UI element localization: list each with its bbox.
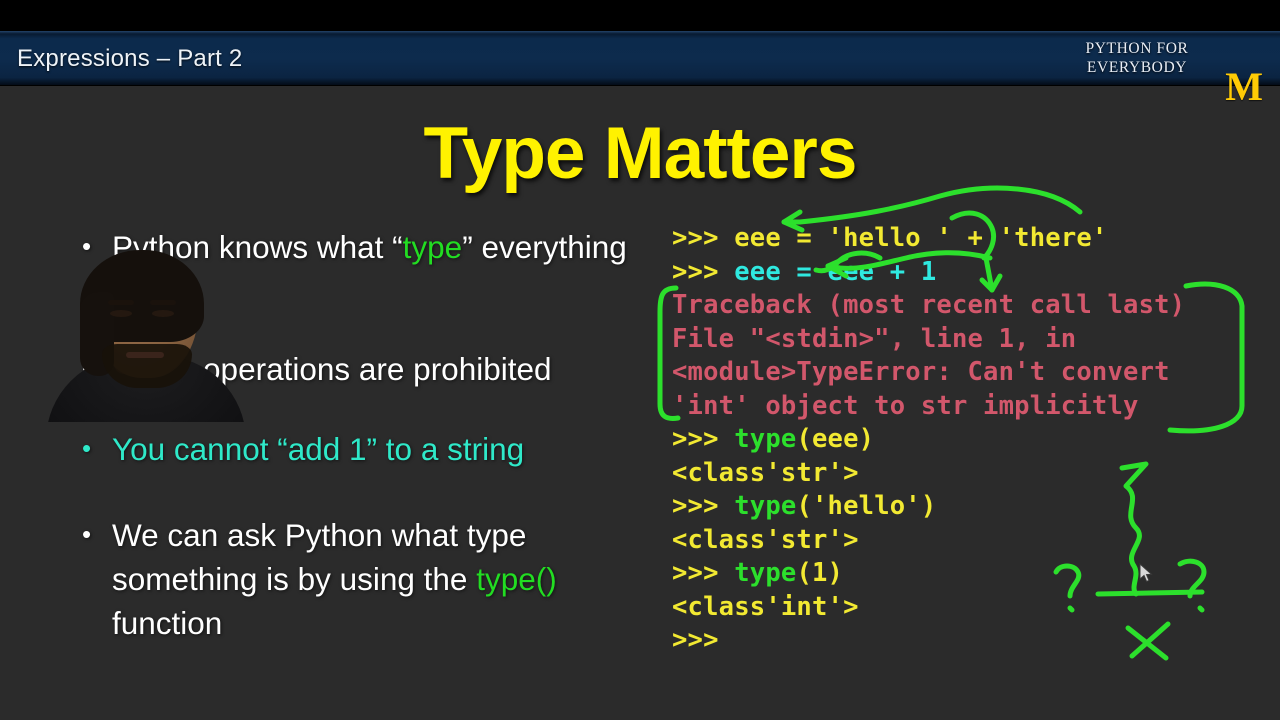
code-segment: <module>TypeError: Can't convert <box>672 357 1170 387</box>
code-line-9: >>> type('hello') <box>672 490 1272 524</box>
code-segment: >>> <box>672 424 734 454</box>
python-console-transcript: >>> eee = 'hello ' + 'there'>>> eee = ee… <box>672 222 1272 658</box>
brand-line-2: EVERYBODY <box>1062 58 1212 77</box>
code-segment: >>> <box>672 223 734 253</box>
code-line-2: >>> eee = eee + 1 <box>672 256 1272 290</box>
code-segment: (1) <box>796 558 843 588</box>
page-title: Type Matters <box>0 112 1280 195</box>
code-segment: 'int' object to str implicitly <box>672 391 1139 421</box>
code-segment: File "<stdin>", line 1, in <box>672 324 1076 354</box>
code-segment: (eee) <box>796 424 874 454</box>
lecture-title: Expressions – Part 2 <box>17 45 242 73</box>
bullet-ask-python-type: We can ask Python what type something is… <box>80 513 640 645</box>
brand-wordmark: PYTHON FOR EVERYBODY <box>1062 39 1212 77</box>
code-segment: type <box>734 558 796 588</box>
code-segment: Traceback (most recent call last) <box>672 290 1185 320</box>
code-segment: >>> <box>672 558 734 588</box>
presenter-webcam-cutout <box>18 248 254 422</box>
code-line-7: >>> type(eee) <box>672 423 1272 457</box>
code-line-12: <class'int'> <box>672 591 1272 625</box>
mouse-cursor <box>1139 563 1153 583</box>
bullet-keyword-type-function: type() <box>476 561 557 597</box>
code-segment: <class'str'> <box>672 458 859 488</box>
code-line-8: <class'str'> <box>672 457 1272 491</box>
webcam-eyebrow-right <box>150 300 176 305</box>
bullet-cannot-add-one: You cannot “add 1” to a string <box>80 427 640 471</box>
code-segment: >>> <box>672 257 734 287</box>
letterbox-top <box>0 0 1280 31</box>
webcam-mouth <box>126 352 164 358</box>
code-segment: eee = eee + 1 <box>734 257 936 287</box>
slide-screen: Expressions – Part 2 PYTHON FOR EVERYBOD… <box>0 0 1280 720</box>
code-line-5: <module>TypeError: Can't convert <box>672 356 1272 390</box>
code-line-10: <class'str'> <box>672 524 1272 558</box>
banner-highlight <box>0 31 1280 34</box>
michigan-m-logo: M <box>1225 67 1262 107</box>
code-line-6: 'int' object to str implicitly <box>672 390 1272 424</box>
code-segment: ('hello') <box>796 491 936 521</box>
webcam-eye-left <box>110 310 132 317</box>
code-line-1: >>> eee = 'hello ' + 'there' <box>672 222 1272 256</box>
code-segment: >>> <box>672 625 719 655</box>
code-line-3: Traceback (most recent call last) <box>672 289 1272 323</box>
brand-line-1: PYTHON FOR <box>1062 39 1212 58</box>
code-segment: type <box>734 491 796 521</box>
code-line-13: >>> <box>672 624 1272 658</box>
bullet-text-part: You cannot “add 1” to a string <box>112 431 524 467</box>
code-segment: <class'int'> <box>672 592 859 622</box>
code-line-4: File "<stdin>", line 1, in <box>672 323 1272 357</box>
code-line-11: >>> type(1) <box>672 557 1272 591</box>
bullet-keyword-type: type <box>403 229 463 265</box>
bullet-text-part: We can ask Python what type something is… <box>112 517 526 597</box>
code-segment: <class'str'> <box>672 525 859 555</box>
webcam-eye-right <box>152 310 174 317</box>
webcam-eyebrow-left <box>108 300 134 305</box>
bullet-text-part: ” <box>462 229 473 265</box>
bullet-text-part: function <box>112 605 222 641</box>
course-banner: Expressions – Part 2 PYTHON FOR EVERYBOD… <box>0 31 1280 85</box>
code-segment: >>> <box>672 491 734 521</box>
code-segment: type <box>734 424 796 454</box>
code-segment: eee = 'hello ' + 'there' <box>734 223 1107 253</box>
